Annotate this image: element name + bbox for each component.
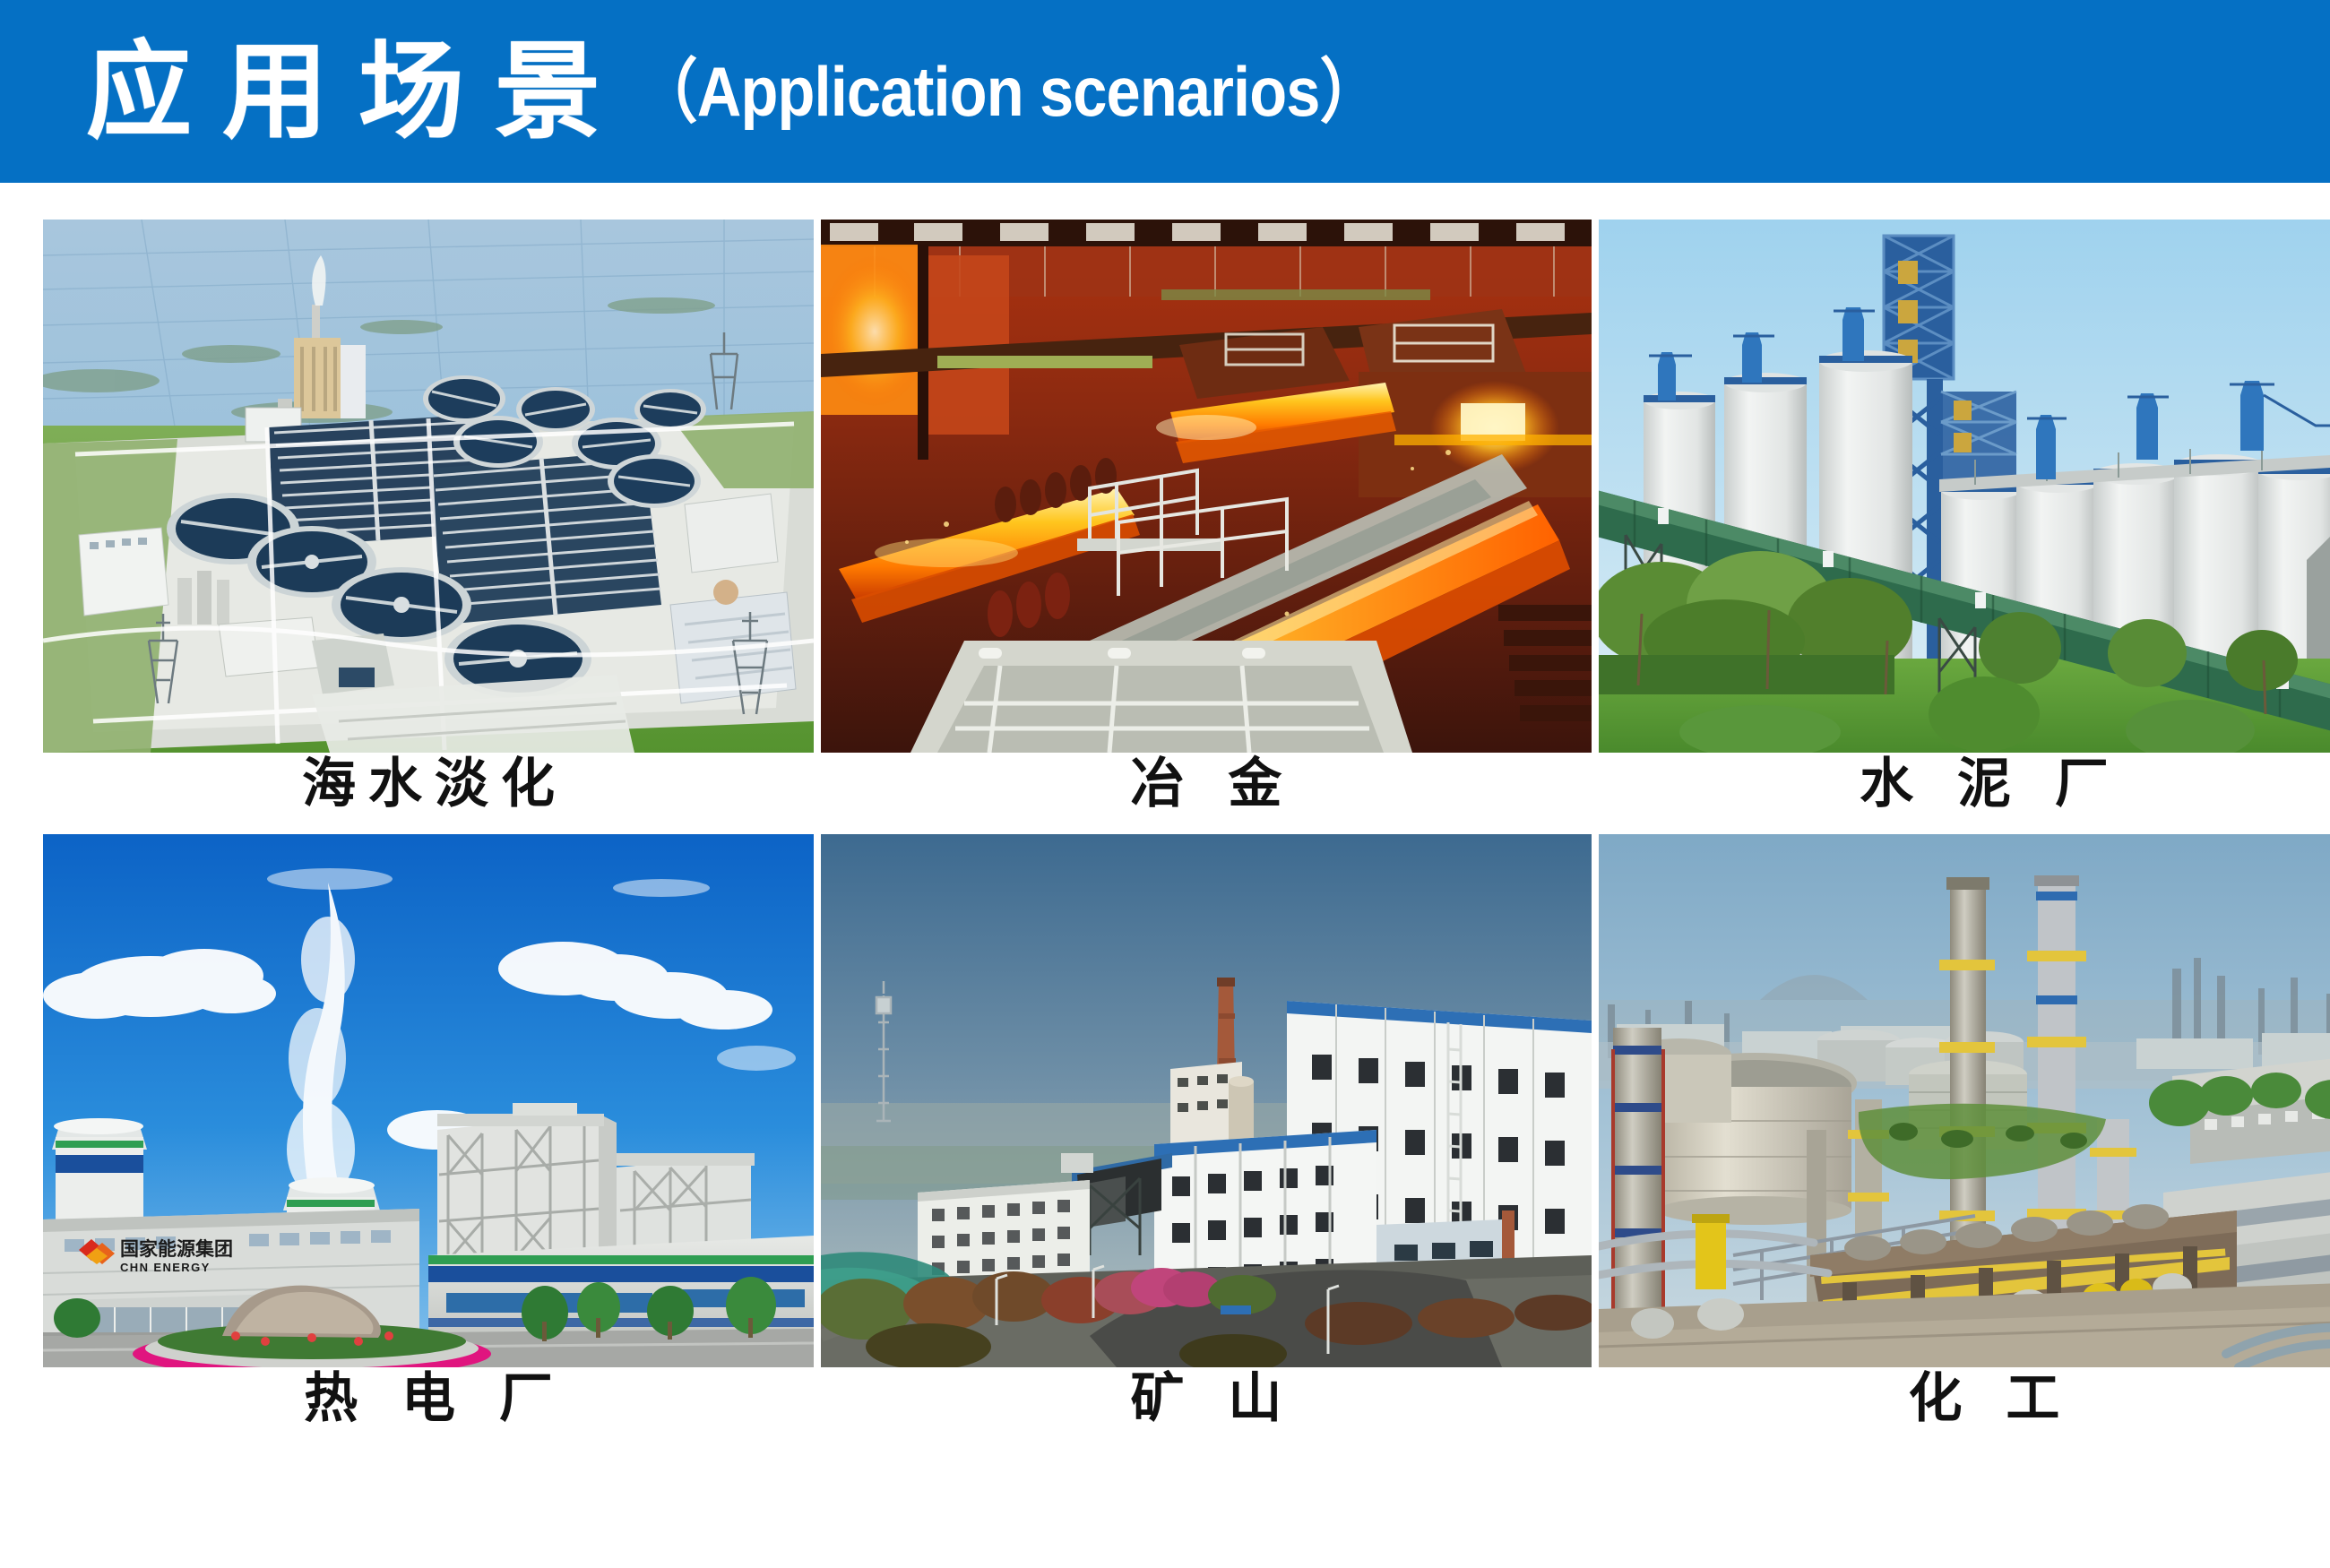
scenario-image-chemical-industry bbox=[1599, 834, 2330, 1367]
scenario-card-chemical-industry[interactable]: 化 工 bbox=[1599, 834, 2330, 1440]
scenario-card-metallurgy[interactable]: 冶 金 bbox=[821, 220, 1592, 825]
application-scenarios-grid: 海水淡化 bbox=[43, 220, 2298, 1546]
page-title-chinese: 应用场景 bbox=[86, 39, 631, 144]
scenario-caption-seawater-desalination: 海水淡化 bbox=[43, 757, 814, 811]
scenario-image-thermal-power-plant: 国家能源集团 CHN ENERGY bbox=[43, 834, 814, 1367]
chn-energy-logo-text-en: CHN ENERGY bbox=[120, 1261, 211, 1274]
scenario-image-metallurgy bbox=[821, 220, 1592, 753]
scenario-card-seawater-desalination[interactable]: 海水淡化 bbox=[43, 220, 814, 825]
scenario-caption-metallurgy: 冶 金 bbox=[821, 757, 1592, 811]
page-header-banner: 应用场景 （Application scenarios） bbox=[0, 0, 2330, 183]
scenario-caption-mine: 矿 山 bbox=[821, 1372, 1592, 1426]
page-title-english: （Application scenarios） bbox=[636, 56, 1380, 126]
scenario-card-thermal-power-plant[interactable]: 国家能源集团 CHN ENERGY bbox=[43, 834, 814, 1440]
scenario-caption-thermal-power-plant: 热 电 厂 bbox=[43, 1372, 814, 1426]
chn-energy-logo-text-cn: 国家能源集团 bbox=[120, 1238, 233, 1260]
scenario-card-cement-plant[interactable]: 水 泥 厂 bbox=[1599, 220, 2330, 825]
scenario-caption-cement-plant: 水 泥 厂 bbox=[1599, 757, 2330, 811]
scenario-card-mine[interactable]: 矿 山 bbox=[821, 834, 1592, 1440]
scenario-image-seawater-desalination bbox=[43, 220, 814, 753]
scenario-image-cement-plant bbox=[1599, 220, 2330, 753]
scenario-image-mine bbox=[821, 834, 1592, 1367]
scenario-caption-chemical-industry: 化 工 bbox=[1599, 1372, 2330, 1426]
